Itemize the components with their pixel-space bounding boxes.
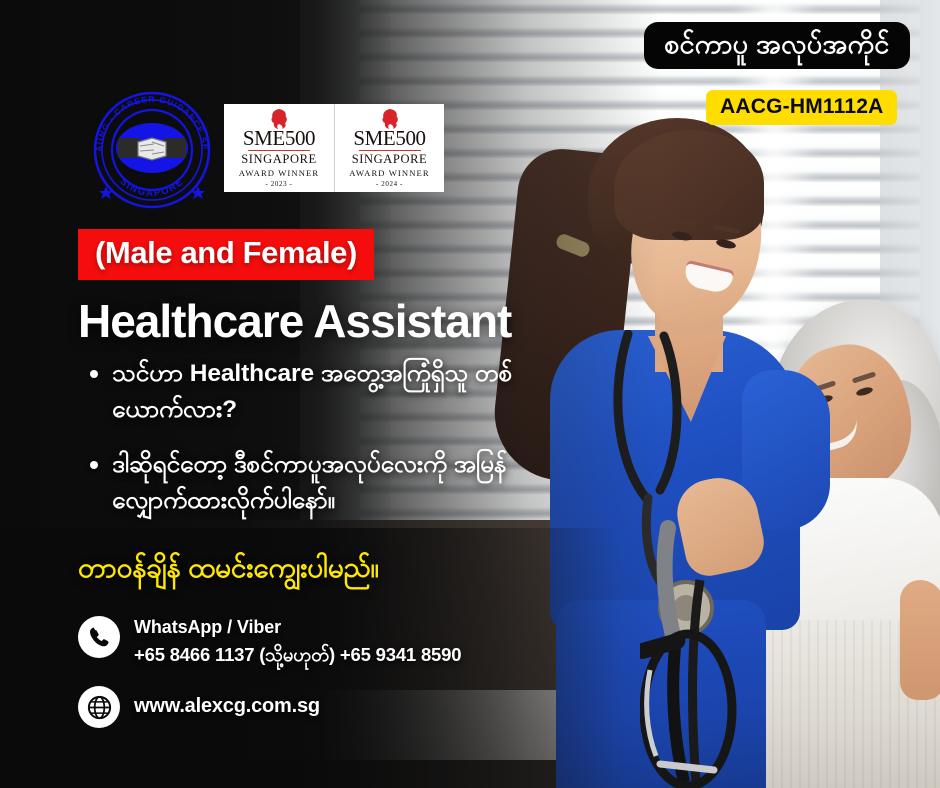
phone-icon <box>78 616 120 658</box>
list-item-label: ဒါဆိုရင်တော့ ဒီစင်ကာပူအလုပ်လေးကို အမြန်လ… <box>112 447 536 520</box>
country-job-badge: စင်ကာပူ အလုပ်အကိုင် <box>644 22 910 69</box>
job-code-badge: AACG-HM1112A <box>706 90 897 125</box>
contact-label: WhatsApp / Viber <box>134 617 461 638</box>
award-year: - 2024 - <box>376 180 403 188</box>
contact-row-phone[interactable]: WhatsApp / Viber +65 8466 1137 (သို့မဟုတ… <box>78 616 461 671</box>
list-item: သင်ဟာ Healthcare အတွေ့အကြုံရှိသူ တစ်ယောက… <box>84 356 536 429</box>
award-country: SINGAPORE <box>241 153 317 167</box>
description-list: သင်ဟာ Healthcare အတွေ့အကြုံရှိသူ တစ်ယောက… <box>84 356 536 537</box>
recruitment-poster: စင်ကာပူ အလုပ်အကိုင် AACG-HM1112A ALEX <box>0 0 940 788</box>
contact-value: +65 8466 1137 (သို့မဟုတ်) +65 9341 8590 <box>134 644 461 671</box>
svg-text:SINGAPORE: SINGAPORE <box>118 176 187 199</box>
award-badge: SME500 SINGAPORE AWARD WINNER - 2024 - <box>334 104 444 192</box>
award-badge: SME500 SINGAPORE AWARD WINNER - 2023 - <box>224 104 334 192</box>
award-subtitle: AWARD WINNER <box>239 168 319 178</box>
contact-row-website[interactable]: www.alexcg.com.sg <box>78 686 461 728</box>
company-seal-logo: ALEX AUNG · CAREER GUIDANCE SERVICE SING… <box>82 90 222 210</box>
contact-text-group: WhatsApp / Viber +65 8466 1137 (သို့မဟုတ… <box>134 616 461 671</box>
globe-icon <box>78 686 120 728</box>
bullet-dot-icon <box>90 370 98 378</box>
website-url[interactable]: www.alexcg.com.sg <box>134 686 320 718</box>
award-country: SINGAPORE <box>352 153 428 167</box>
list-item-label: သင်ဟာ Healthcare အတွေ့အကြုံရှိသူ တစ်ယောက… <box>112 356 536 429</box>
award-name: SME500 <box>243 128 315 149</box>
award-year: - 2023 - <box>266 180 293 188</box>
list-item: ဒါဆိုရင်တော့ ဒီစင်ကာပူအလုပ်လေးကို အမြန်လ… <box>84 447 536 520</box>
award-subtitle: AWARD WINNER <box>349 168 429 178</box>
contact-block: WhatsApp / Viber +65 8466 1137 (သို့မဟုတ… <box>78 616 461 743</box>
poster-content: စင်ကာပူ အလုပ်အကိုင် AACG-HM1112A ALEX <box>0 0 940 788</box>
award-divider <box>248 150 310 152</box>
award-divider <box>359 150 421 152</box>
gender-tag: (Male and Female) <box>78 229 374 280</box>
job-title: Healthcare Assistant <box>78 294 511 348</box>
award-name: SME500 <box>353 128 425 149</box>
benefit-highlight: တာဝန်ချိန် ထမင်းကျွေးပါမည်။ <box>78 549 379 591</box>
bullet-dot-icon <box>90 461 98 469</box>
award-badges: SME500 SINGAPORE AWARD WINNER - 2023 - S… <box>224 104 444 192</box>
